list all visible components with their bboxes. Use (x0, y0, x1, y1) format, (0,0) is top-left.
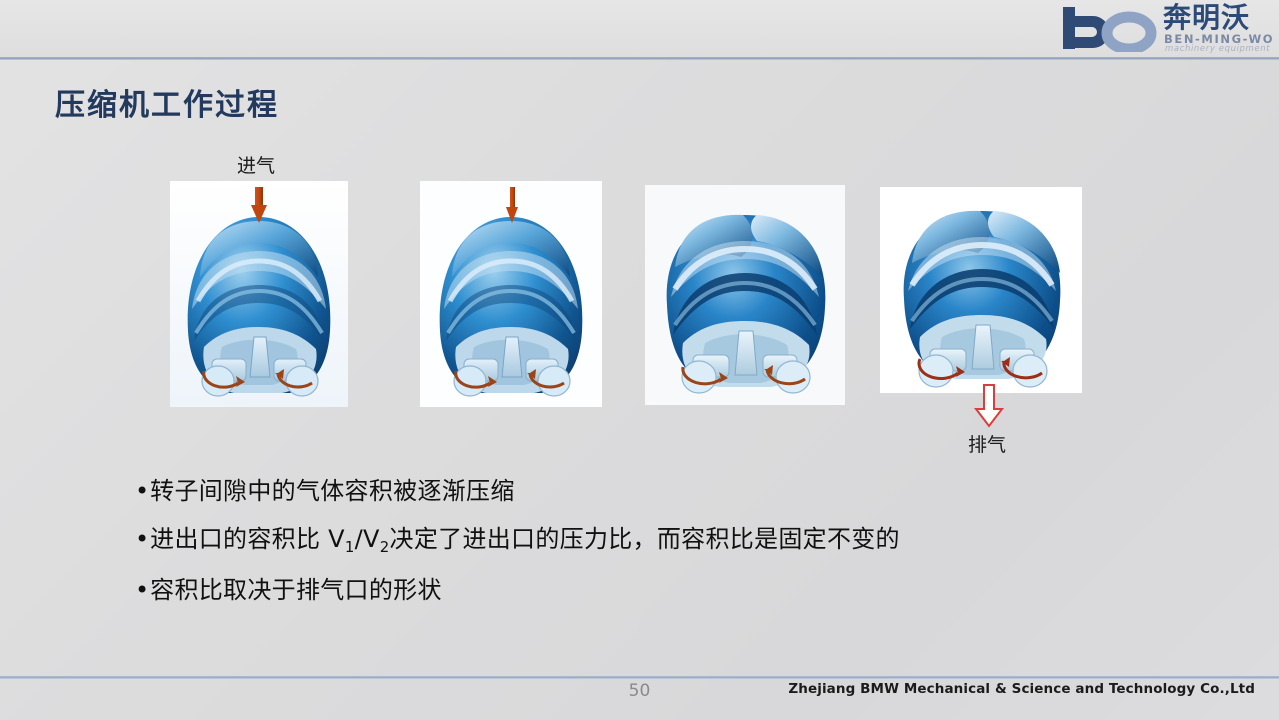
company-logo: 奔明沃 BEN-MING-WO machinery equipment (1051, 2, 1271, 56)
bullet-text: 进出口的容积比 V1/V2决定了进出口的压力比，而容积比是固定不变的 (150, 524, 900, 557)
intake-arrow-1-icon (251, 187, 267, 223)
bullet-text-post: 决定了进出口的压力比，而容积比是固定不变的 (390, 525, 900, 553)
logo-bo-mark-icon (1057, 4, 1165, 52)
rotor-render-3-icon (645, 185, 845, 405)
rotor-figure-3 (645, 185, 845, 405)
footer-company-name: Zhejiang BMW Mechanical & Science and Te… (788, 681, 1255, 697)
volume-subscript-1: 1 (345, 538, 355, 556)
bullet-marker: • (135, 575, 149, 605)
intake-label: 进气 (237, 151, 275, 178)
bullet-text: 容积比取决于排气口的形状 (150, 575, 442, 605)
bullet-marker: • (135, 476, 149, 506)
bullet-item-3: • 容积比取决于排气口的形状 (135, 575, 1175, 605)
header-divider (0, 57, 1279, 60)
slide-root: 奔明沃 BEN-MING-WO machinery equipment 压缩机工… (0, 0, 1279, 720)
logo-chinese-name: 奔明沃 (1163, 3, 1250, 33)
rotor-figure-2 (420, 181, 602, 407)
rotor-figure-4 (880, 187, 1082, 393)
bullet-text-mid: /V (355, 525, 380, 553)
diagram-stage: 进气 排气 (0, 140, 1279, 470)
intake-arrow-2-icon (506, 187, 518, 223)
exhaust-arrow-icon (974, 384, 1004, 428)
bullet-list: • 转子间隙中的气体容积被逐渐压缩 • 进出口的容积比 V1/V2决定了进出口的… (135, 476, 1175, 623)
bullet-item-2: • 进出口的容积比 V1/V2决定了进出口的压力比，而容积比是固定不变的 (135, 524, 1175, 557)
rotor-render-4-icon (880, 187, 1082, 393)
exhaust-label: 排气 (968, 430, 1006, 457)
rotor-figure-1 (170, 181, 348, 407)
bullet-marker: • (135, 524, 149, 554)
bullet-item-1: • 转子间隙中的气体容积被逐渐压缩 (135, 476, 1175, 506)
logo-tagline: machinery equipment (1165, 44, 1270, 54)
footer-divider (0, 676, 1279, 679)
page-title: 压缩机工作过程 (55, 80, 279, 124)
bullet-text: 转子间隙中的气体容积被逐渐压缩 (150, 476, 515, 506)
volume-subscript-2: 2 (380, 538, 390, 556)
bullet-text-pre: 进出口的容积比 V (150, 525, 345, 553)
